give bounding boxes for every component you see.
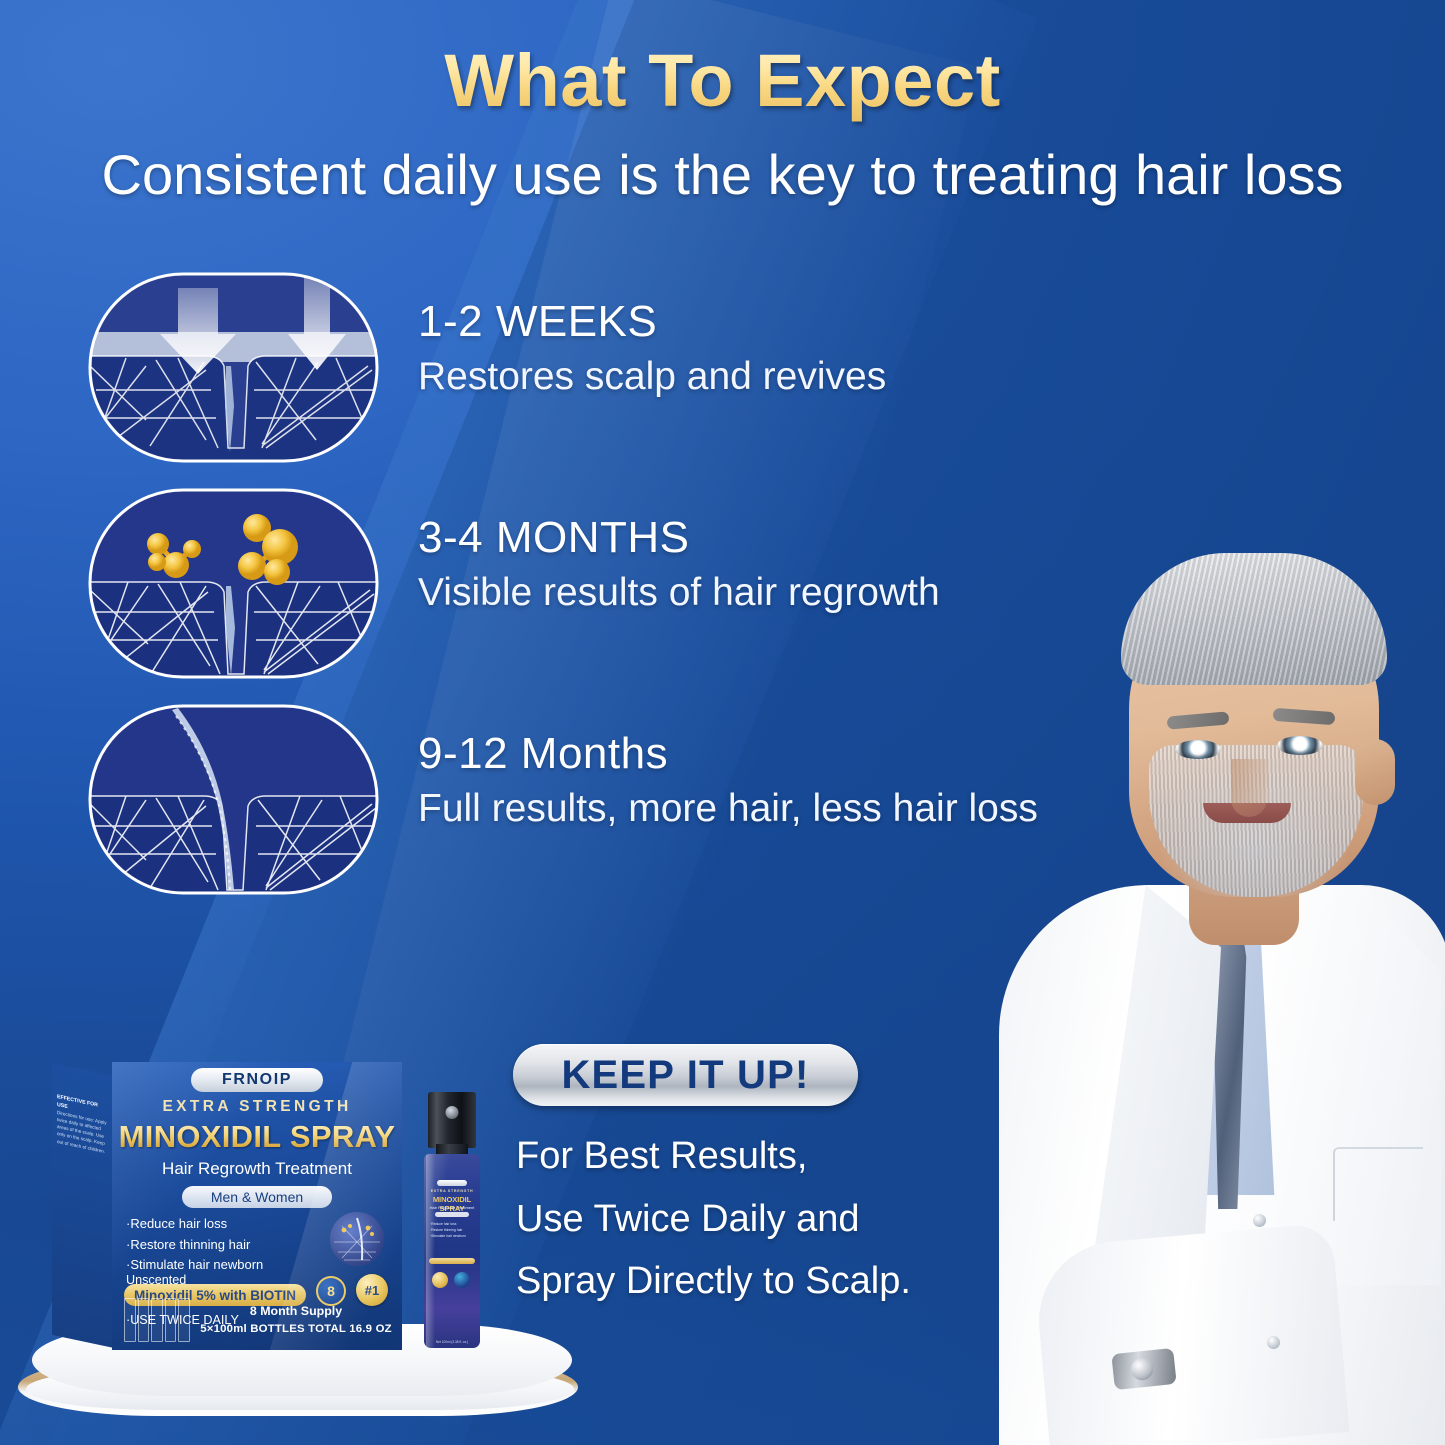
product-tagline: Hair Regrowth Treatment: [112, 1159, 402, 1179]
spray-benefits: ·Reduce hair loss ·Restore thinning hair…: [430, 1222, 466, 1239]
timeline-description: Visible results of hair regrowth: [418, 570, 1078, 617]
poster-canvas: What To Expect Consistent daily use is t…: [0, 0, 1445, 1445]
bottle-glyph: [151, 1298, 163, 1342]
cta-line-3: Spray Directly to Scalp.: [516, 1257, 1036, 1306]
hair: [1121, 553, 1387, 685]
product-box-front: FRNOIP EXTRA STRENGTH MINOXIDIL SPRAY Ha…: [112, 1062, 402, 1350]
folded-arms: [1032, 1222, 1349, 1445]
scalp-absorption-icon: [86, 270, 381, 465]
product-name: MINOXIDIL SPRAY: [112, 1119, 402, 1155]
bottles-pictogram-icon: [124, 1298, 190, 1342]
timeline-heading: 9-12 Months: [418, 728, 1078, 780]
product-benefits: ·Reduce hair loss ·Restore thinning hair…: [126, 1214, 263, 1276]
timeline-text-3: 9-12 Months Full results, more hair, les…: [418, 728, 1078, 833]
keep-it-up-label: KEEP IT UP!: [561, 1053, 809, 1098]
nose: [1231, 759, 1267, 817]
supply-line-2: 5×100ml BOTTLES TOTAL 16.9 OZ: [198, 1321, 394, 1338]
rank-coin-badge: #1: [356, 1274, 388, 1306]
scalp-hair-growth-icon: [86, 702, 381, 897]
coat-button: [1267, 1336, 1280, 1349]
bottle-glyph: [178, 1298, 190, 1342]
cta-block: For Best Results, Use Twice Daily and Sp…: [516, 1132, 1036, 1320]
rank-coin-value: #1: [365, 1283, 379, 1298]
follicle-illustration-icon: [330, 1212, 384, 1266]
cta-line-2: Use Twice Daily and: [516, 1195, 1036, 1244]
product-audience: Men & Women: [211, 1189, 303, 1205]
product-brand: FRNOIP: [222, 1071, 292, 1089]
spray-seal-badge: [454, 1272, 470, 1288]
timeline-text-1: 1-2 WEEKS Restores scalp and revives: [418, 296, 1078, 401]
spray-bottle: EXTRA STRENGTH MINOXIDIL SPRAY Hair Regr…: [421, 1092, 483, 1354]
cta-line-1: For Best Results,: [516, 1132, 1036, 1181]
month-supply-seal-badge: 8: [316, 1276, 346, 1306]
eye-left: [1175, 740, 1221, 759]
benefit-1: ·Reduce hair loss: [126, 1214, 263, 1235]
bottle-glyph: [124, 1298, 136, 1342]
bottle-glyph: [165, 1298, 177, 1342]
spray-strength: EXTRA STRENGTH: [424, 1189, 480, 1193]
product-strength: EXTRA STRENGTH: [112, 1098, 402, 1116]
benefit-2: ·Restore thinning hair: [126, 1235, 263, 1256]
spray-benefit-3: ·Stimulate hair newborn: [430, 1234, 466, 1240]
expectation-timeline: 1-2 WEEKS Restores scalp and revives: [78, 262, 1078, 910]
product-brand-plate: FRNOIP: [191, 1068, 323, 1092]
timeline-item-2: 3-4 MONTHS Visible results of hair regro…: [78, 478, 1078, 694]
timeline-heading: 1-2 WEEKS: [418, 296, 1078, 348]
product-supply-info: 8 Month Supply 5×100ml BOTTLES TOTAL 16.…: [198, 1302, 394, 1338]
coat-button: [1253, 1214, 1266, 1227]
page-subtitle: Consistent daily use is the key to treat…: [0, 142, 1445, 207]
spray-benefit-2: ·Restore thinning hair: [430, 1228, 466, 1234]
product-box-side-text: EFFECTIVE FOR USE Directions for use: Ap…: [57, 1086, 109, 1156]
spray-product-name: MINOXIDIL SPRAY: [424, 1195, 480, 1213]
coat-pocket: [1333, 1147, 1423, 1221]
timeline-description: Full results, more hair, less hair loss: [418, 786, 1078, 833]
spray-brand-plate: [437, 1180, 467, 1186]
supply-line-1: 8 Month Supply: [198, 1302, 394, 1321]
spray-pump-cap: [428, 1092, 476, 1148]
spray-tagline: Hair Regrowth Treatment: [424, 1205, 480, 1210]
spray-formula-pill: [429, 1258, 475, 1264]
scalp-molecules-icon: [86, 486, 381, 681]
bottle-glyph: [138, 1298, 150, 1342]
timeline-text-2: 3-4 MONTHS Visible results of hair regro…: [418, 512, 1078, 617]
spray-rank-coin-badge: [432, 1272, 448, 1288]
eye-right: [1277, 736, 1323, 755]
doctor-model-image: [981, 365, 1445, 1445]
product-audience-pill: Men & Women: [182, 1186, 332, 1208]
month-supply-seal-value: 8: [327, 1283, 335, 1299]
spray-bottle-body: EXTRA STRENGTH MINOXIDIL SPRAY Hair Regr…: [424, 1154, 480, 1348]
page-title: What To Expect: [0, 38, 1445, 123]
lab-coat-lapel-right: [1261, 885, 1441, 1285]
timeline-heading: 3-4 MONTHS: [418, 512, 1078, 564]
timeline-item-3: 9-12 Months Full results, more hair, les…: [78, 694, 1078, 910]
ear: [1355, 739, 1395, 805]
product-box-side-panel: EFFECTIVE FOR USE Directions for use: Ap…: [52, 1063, 114, 1348]
spray-audience-pill: [435, 1212, 469, 1217]
wristwatch: [1111, 1348, 1176, 1390]
spray-volume: Net 100ml (3.38 fl. oz.): [424, 1340, 480, 1344]
timeline-item-1: 1-2 WEEKS Restores scalp and revives: [78, 262, 1078, 478]
keep-it-up-badge: KEEP IT UP!: [513, 1044, 858, 1106]
product-box: EFFECTIVE FOR USE Directions for use: Ap…: [52, 1062, 402, 1362]
timeline-description: Restores scalp and revives: [418, 354, 1078, 401]
